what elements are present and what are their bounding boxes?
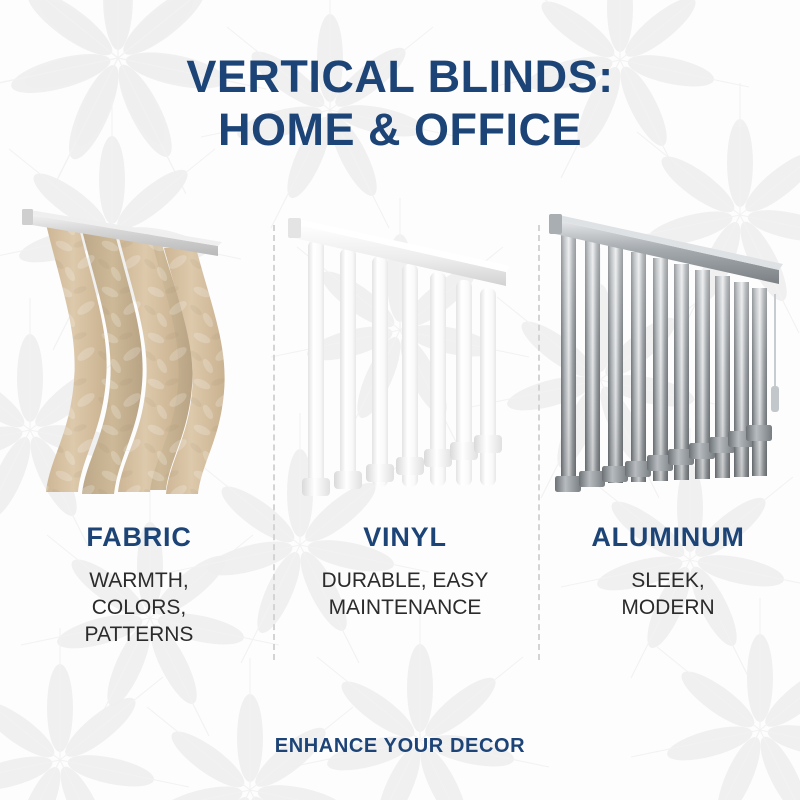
- page-title: VERTICAL BLINDS: HOME & OFFICE: [0, 50, 800, 156]
- title-line-1: VERTICAL BLINDS:: [0, 50, 800, 103]
- category-column-fabric: FABRIC WARMTH, COLORS, PATTERNS: [6, 190, 272, 670]
- category-desc-aluminum: SLEEK, MODERN: [535, 567, 800, 621]
- aluminum-control-chain: [771, 294, 779, 412]
- category-column-vinyl: VINYL DURABLE, EASY MAINTENANCE: [272, 190, 538, 670]
- aluminum-blinds-art: [535, 190, 800, 510]
- title-line-2: HOME & OFFICE: [0, 103, 800, 156]
- fabric-label-block: FABRIC WARMTH, COLORS, PATTERNS: [6, 522, 272, 648]
- category-desc-fabric: WARMTH, COLORS, PATTERNS: [6, 567, 272, 648]
- footer-tagline: ENHANCE YOUR DECOR: [0, 735, 800, 758]
- vinyl-slat-group: [302, 240, 502, 496]
- category-columns: FABRIC WARMTH, COLORS, PATTERNS: [0, 190, 800, 670]
- footer-text: ENHANCE YOUR DECOR: [275, 735, 525, 757]
- aluminum-label-block: ALUMINUM SLEEK, MODERN: [535, 522, 800, 621]
- infographic-canvas: VERTICAL BLINDS: HOME & OFFICE: [0, 0, 800, 800]
- fabric-blinds-art: [6, 190, 272, 510]
- fabric-slat-group: [46, 224, 225, 494]
- category-title-fabric: FABRIC: [6, 522, 272, 553]
- category-column-aluminum: ALUMINUM SLEEK, MODERN: [535, 190, 800, 670]
- category-title-aluminum: ALUMINUM: [535, 522, 800, 553]
- vinyl-label-block: VINYL DURABLE, EASY MAINTENANCE: [272, 522, 538, 621]
- category-desc-vinyl: DURABLE, EASY MAINTENANCE: [272, 567, 538, 621]
- vinyl-blinds-art: [272, 190, 538, 510]
- category-title-vinyl: VINYL: [272, 522, 538, 553]
